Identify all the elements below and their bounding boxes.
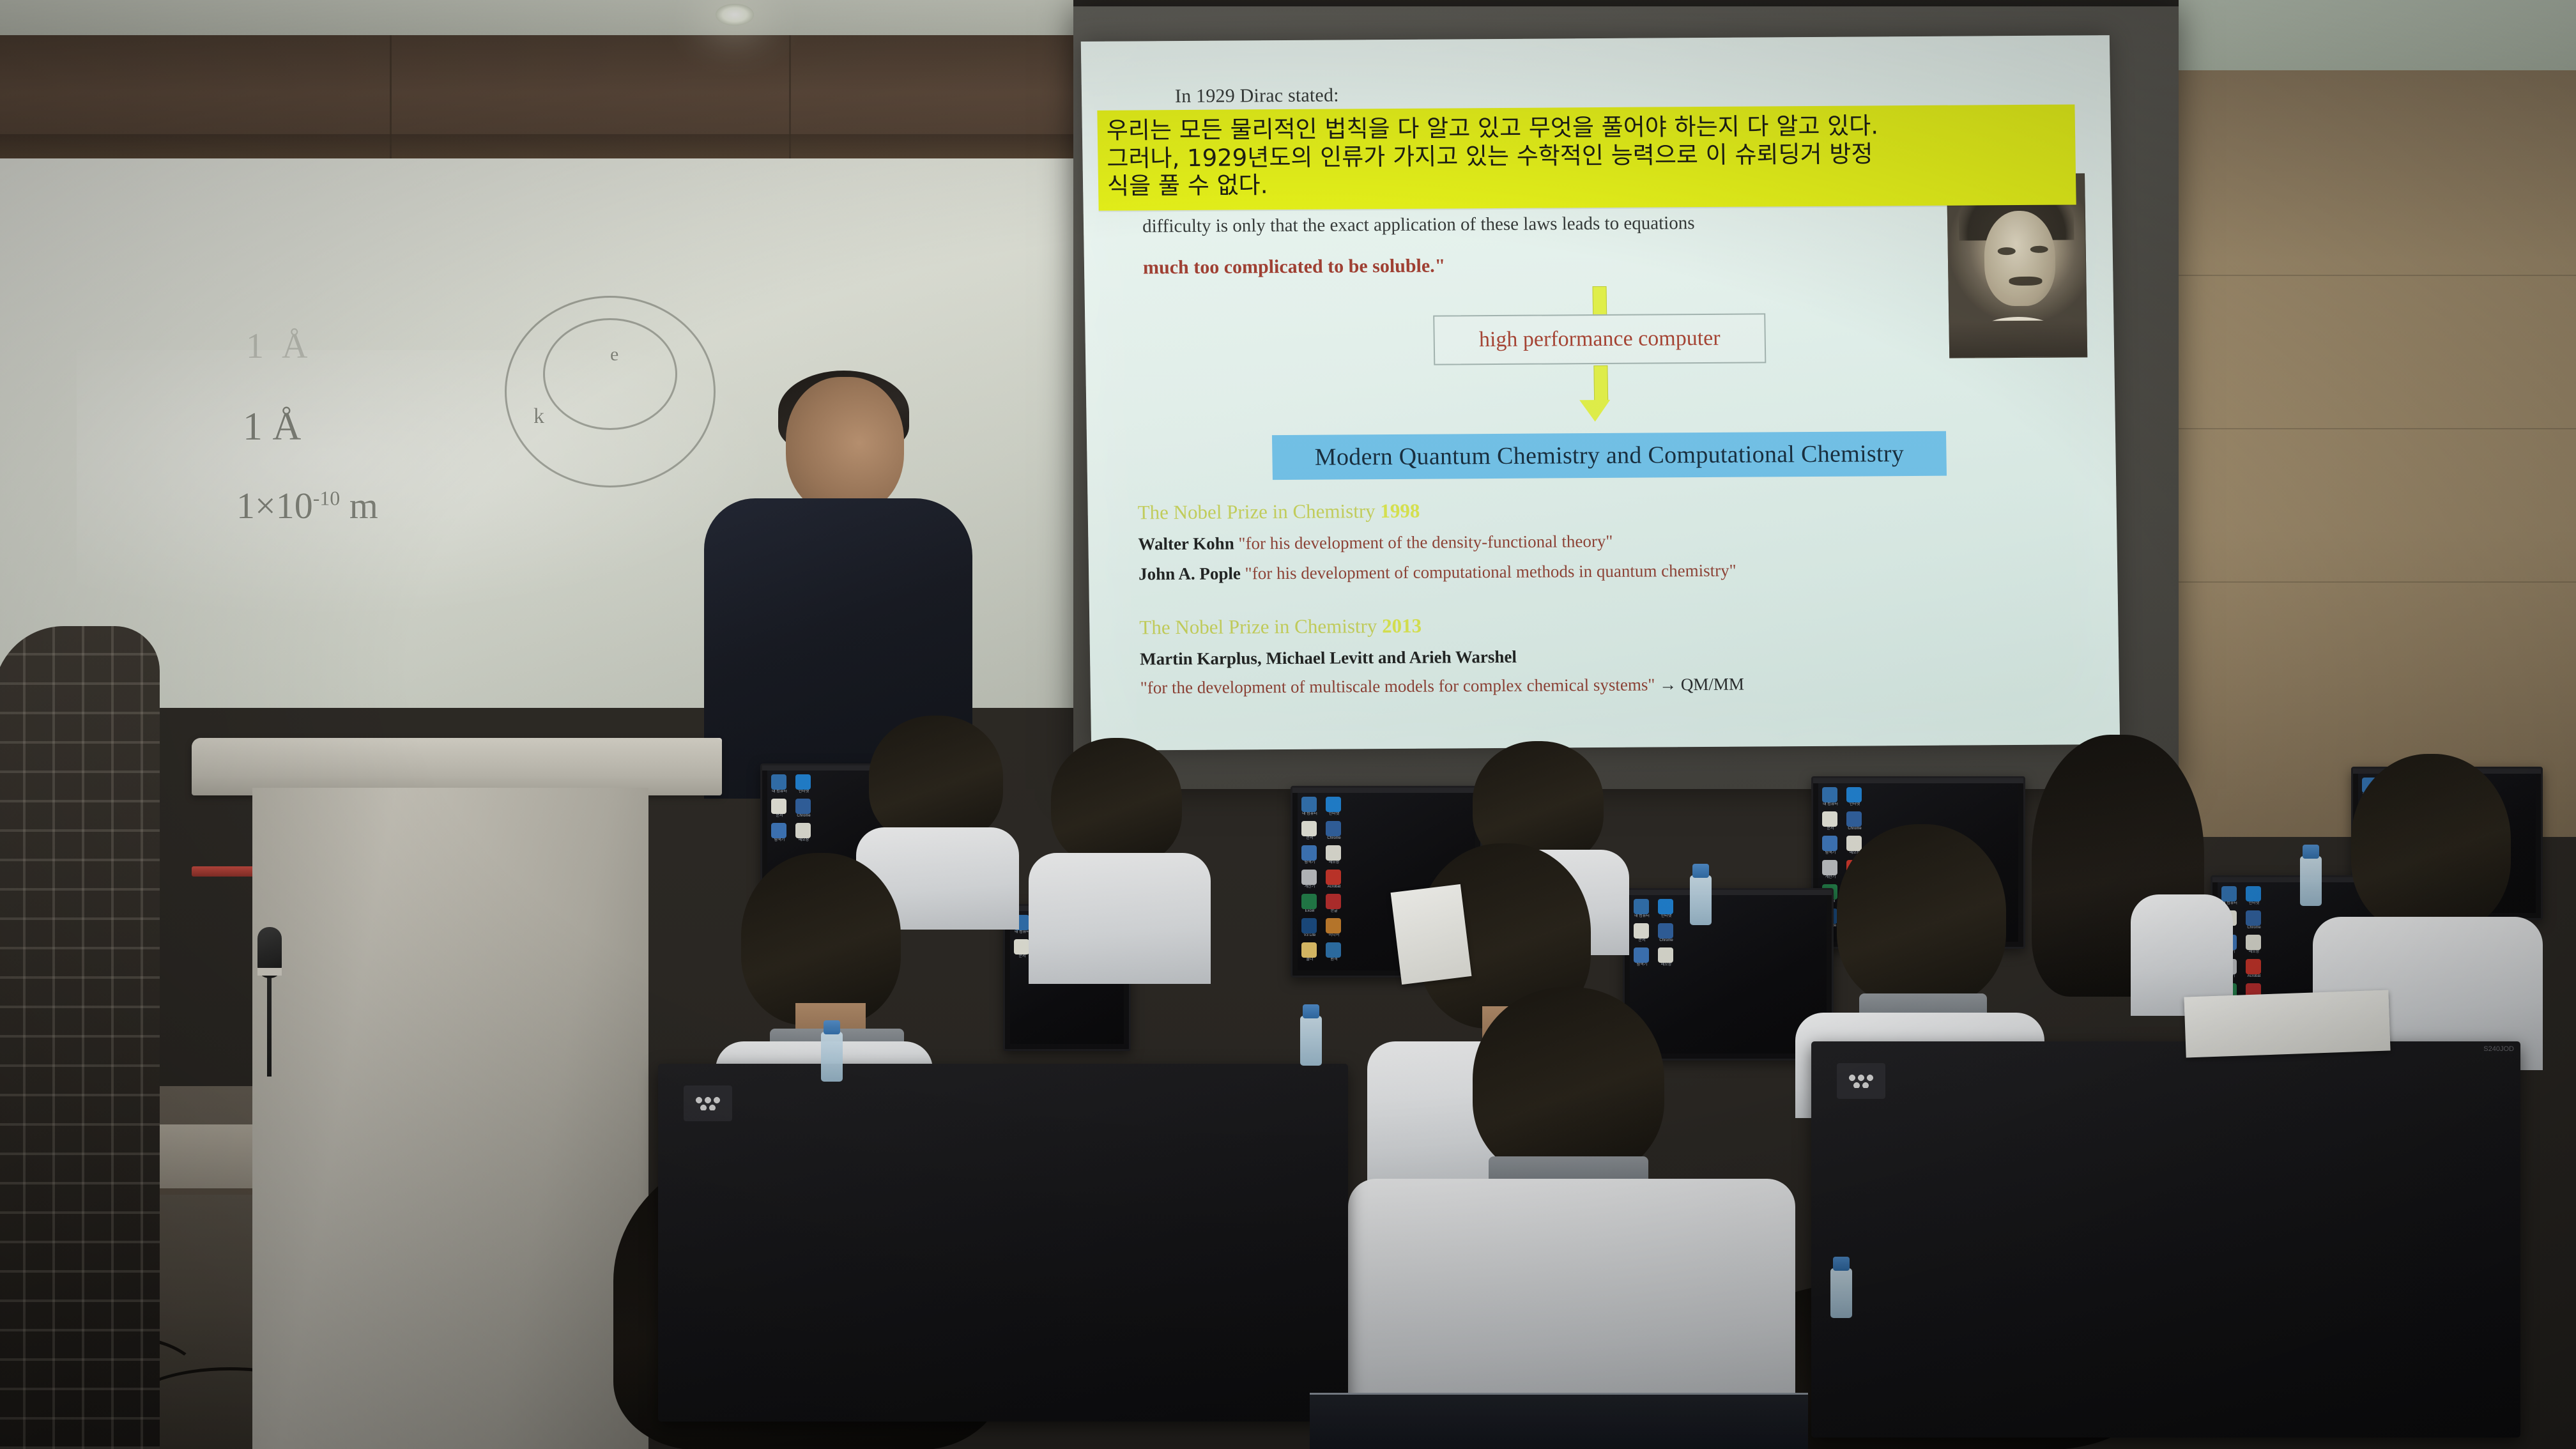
student [1335, 987, 1808, 1447]
desktop-icon-label: 인터넷 [1658, 914, 1675, 919]
attendee-plaid-shirt [0, 626, 160, 1449]
desktop-icon-label: 계산기 [1301, 885, 1318, 890]
desktop-icon-label: 메모장 [1326, 861, 1342, 866]
desktop-icon[interactable]: Excel [1301, 894, 1318, 914]
desktop-icon[interactable]: V3 Lite [1301, 918, 1318, 939]
desktop-icon[interactable]: 인터넷 [1846, 787, 1863, 808]
desktop-icon-label: Chrome [1326, 836, 1342, 841]
laureate-name: John A. Pople [1138, 563, 1241, 583]
desktop-icon-glyph [2221, 886, 2237, 901]
desktop-icon-glyph [2246, 910, 2261, 926]
laureate-name: Martin Karplus, Michael Levitt and Arieh… [1140, 647, 1517, 669]
hpc-label: high performance computer [1479, 326, 1721, 352]
nobel-heading: The Nobel Prize in Chemistry 2013 [1139, 613, 1744, 640]
monitor-back[interactable]: S240JOD [1811, 1041, 2520, 1437]
desktop-icon-label: 인터넷 [1326, 812, 1342, 817]
desktop-icon[interactable]: Chrome [1326, 821, 1342, 841]
desktop-icon-glyph [1326, 942, 1341, 958]
whiteboard-label-k: k [533, 404, 544, 429]
desktop-icon-label: Acrobat [1326, 885, 1342, 890]
dirac-quote-red: much too complicated to be soluble." [1143, 255, 1446, 279]
orbital-ring-inner [543, 318, 677, 430]
korean-line-3: 식을 풀 수 없다. [1107, 167, 2067, 201]
student [2032, 735, 2217, 1035]
desktop-icon-glyph [2246, 959, 2261, 974]
wood-seam [789, 35, 791, 163]
desktop-icon[interactable]: 한글 [1326, 894, 1342, 914]
water-bottle[interactable] [1830, 1268, 1852, 1318]
desktop-icon-label: 내 컴퓨터 [1301, 812, 1318, 817]
desktop-icon-glyph [1301, 918, 1317, 933]
desktop-icon-glyph [795, 774, 811, 790]
desktop-icon[interactable]: Chrome [1658, 923, 1675, 944]
desktop-icon-glyph [1326, 870, 1341, 885]
desktop-icon[interactable]: 내 컴퓨터 [1822, 787, 1839, 808]
laureate-row: Walter Kohn "for his development of the … [1138, 531, 1736, 555]
nobel-citation-2013: "for the development of multiscale model… [1140, 675, 1745, 698]
water-bottle[interactable] [821, 1032, 843, 1082]
desktop-icon[interactable]: Acrobat [1326, 870, 1342, 890]
arrow-head-icon [1579, 400, 1611, 422]
laureate-name: Walter Kohn [1138, 533, 1234, 553]
desktop-icon[interactable]: 문서 [771, 799, 788, 819]
upper-wood-panel [0, 35, 1086, 163]
desktop-icon-label: 내 컴퓨터 [771, 790, 788, 795]
monitor-model-label: S240JOD [2483, 1045, 2514, 1053]
student [1035, 738, 1201, 981]
desktop-icon-glyph [795, 799, 811, 814]
desktop-icon-glyph [1301, 797, 1317, 812]
desktop-icon-label: 인터넷 [2246, 901, 2262, 907]
ceiling-light-icon [716, 4, 754, 26]
presentation-slide: In 1929 Dirac stated: difficulty is only… [1081, 35, 2120, 751]
desktop-icon-glyph [771, 799, 786, 814]
desktop-icon[interactable]: 문서 [1301, 821, 1318, 841]
laureate-row: Martin Karplus, Michael Levitt and Arieh… [1140, 646, 1744, 670]
water-bottle[interactable] [2300, 856, 2322, 906]
desktop-icon[interactable]: 원격 [1326, 942, 1342, 963]
desktop-icon[interactable]: 내 컴퓨터 [1301, 797, 1318, 817]
desktop-icon-glyph [1301, 870, 1317, 885]
korean-highlight-block: 우리는 모든 물리적인 법칙을 다 알고 있고 무엇을 풀어야 하는지 다 알고… [1097, 104, 2076, 210]
desktop-icon[interactable]: Chrome [795, 799, 812, 819]
desktop-icon-glyph [2246, 935, 2261, 950]
desktop-icon-label: Chrome [2246, 926, 2262, 931]
desktop-icon-glyph [2246, 886, 2261, 901]
nobel-block-2013: The Nobel Prize in Chemistry 2013 Martin… [1139, 613, 1744, 698]
slide-lead-in: In 1929 Dirac stated: [1175, 80, 2070, 108]
whiteboard-label-electron: e [610, 344, 618, 365]
desk [1310, 1393, 1808, 1449]
arrow-down-icon [1593, 286, 1607, 316]
monitor-port-panel [1837, 1063, 1885, 1099]
desktop-icon-glyph [1326, 918, 1341, 933]
desktop-icon[interactable]: Chrome [2246, 910, 2262, 931]
desktop-icon[interactable]: 폴더 [1301, 942, 1318, 963]
qmmm-label: → QM/MM [1659, 675, 1744, 694]
desktop-icon[interactable]: 인터넷 [1658, 899, 1675, 919]
laureate-row: John A. Pople "for his development of co… [1138, 561, 1736, 585]
right-wall-panel [2127, 70, 2576, 837]
laureate-citation: "for his development of the density-func… [1238, 532, 1613, 553]
desktop-icon-glyph [1301, 821, 1317, 836]
lecturer-head [786, 377, 904, 514]
desktop-icon[interactable]: Acrobat [2246, 959, 2262, 979]
desktop-icon-label: 원격 [1326, 958, 1342, 963]
desktop-icon-label: Chrome [1658, 939, 1675, 944]
microphone-band [257, 968, 282, 976]
water-bottle[interactable] [1300, 1016, 1322, 1066]
desktop-icon-label: Acrobat [2246, 974, 2262, 979]
podium-top [192, 738, 722, 795]
arrow-down-icon [1593, 365, 1608, 402]
desktop-icon[interactable]: 인터넷 [795, 774, 812, 795]
desktop-icon-glyph [1658, 899, 1673, 914]
desktop-icon-glyph [771, 774, 786, 790]
section-band-label: Modern Quantum Chemistry and Computation… [1315, 440, 1905, 471]
desktop-icon-glyph [1822, 787, 1837, 802]
desktop-icon[interactable]: 메모장 [1326, 845, 1342, 866]
desktop-icon-glyph [1014, 939, 1029, 954]
desktop-icon-label: 인터넷 [1846, 802, 1863, 808]
desktop-icon-glyph [1846, 787, 1862, 802]
monitor-port-panel [684, 1085, 732, 1121]
desktop-icon[interactable]: 메모장 [1658, 947, 1675, 968]
desktop-icon[interactable]: 계산기 [1301, 870, 1318, 890]
desktop-icon-glyph [1301, 894, 1317, 909]
desktop-icon-glyph [1326, 821, 1341, 836]
whiteboard-note-faint: 1 Å [246, 326, 307, 367]
paper-handout[interactable] [1391, 884, 1472, 985]
desktop-icon-label: 내 컴퓨터 [1822, 802, 1839, 808]
whiteboard-note-angstrom: 1 Å [243, 404, 301, 450]
desktop-icon-glyph [1326, 894, 1341, 909]
desktop-icon-label: 탐색기 [1301, 861, 1318, 866]
desktop-icon-label: Excel [1301, 909, 1318, 914]
desktop-icon[interactable]: 내 컴퓨터 [771, 774, 788, 795]
podium-body [252, 788, 648, 1449]
whiteboard-note-length: 1×10-10 m [236, 484, 378, 527]
desktop-icon-glyph [1658, 947, 1673, 963]
desktop-icon[interactable]: 메모장 [2246, 935, 2262, 955]
desktop-icon-glyph [1301, 845, 1317, 861]
desktop-icon[interactable]: 인터넷 [1326, 797, 1342, 817]
modern-quantum-chemistry-band: Modern Quantum Chemistry and Computation… [1272, 431, 1947, 480]
wood-seam [390, 35, 392, 163]
nobel-block-1998: The Nobel Prize in Chemistry 1998 Walter… [1137, 498, 1736, 585]
desktop-icon[interactable]: 탐색기 [1301, 845, 1318, 866]
high-performance-computer-box: high performance computer [1433, 313, 1766, 365]
desktop-icon-label: V3 Lite [1301, 933, 1318, 939]
desktop-icon[interactable]: 인터넷 [2246, 886, 2262, 907]
desktop-icon-label: 문서 [1301, 836, 1318, 841]
desktop-icon-label: 한글 [1326, 909, 1342, 914]
desktop-icon-label: 폴더 [1301, 958, 1318, 963]
desktop-icon-glyph [1326, 845, 1341, 861]
nobel-heading: The Nobel Prize in Chemistry 1998 [1137, 498, 1735, 525]
desktop-icon-label: 미디어 [1326, 933, 1342, 939]
paper-handout[interactable] [2184, 990, 2390, 1057]
desktop-icon-label: 메모장 [2246, 950, 2262, 955]
student [680, 818, 949, 1086]
desktop-icon-glyph [1658, 923, 1673, 939]
desktop-icon-glyph [1326, 797, 1341, 812]
desktop-icon-label: 메모장 [1658, 963, 1675, 968]
desktop-icon[interactable]: 미디어 [1326, 918, 1342, 939]
monitor-back[interactable] [658, 1064, 1348, 1422]
water-bottle[interactable] [1690, 875, 1712, 925]
desktop-icon-glyph [1301, 942, 1317, 958]
lecture-hall-photo: 1 Å 1 Å 1×10-10 m e k In 1929 Dirac stat… [0, 0, 2576, 1449]
laureate-citation: "for his development of computational me… [1245, 561, 1736, 583]
desktop-icon-label: 인터넷 [795, 790, 812, 795]
dirac-quote-tail: difficulty is only that the exact applic… [1142, 208, 1916, 241]
